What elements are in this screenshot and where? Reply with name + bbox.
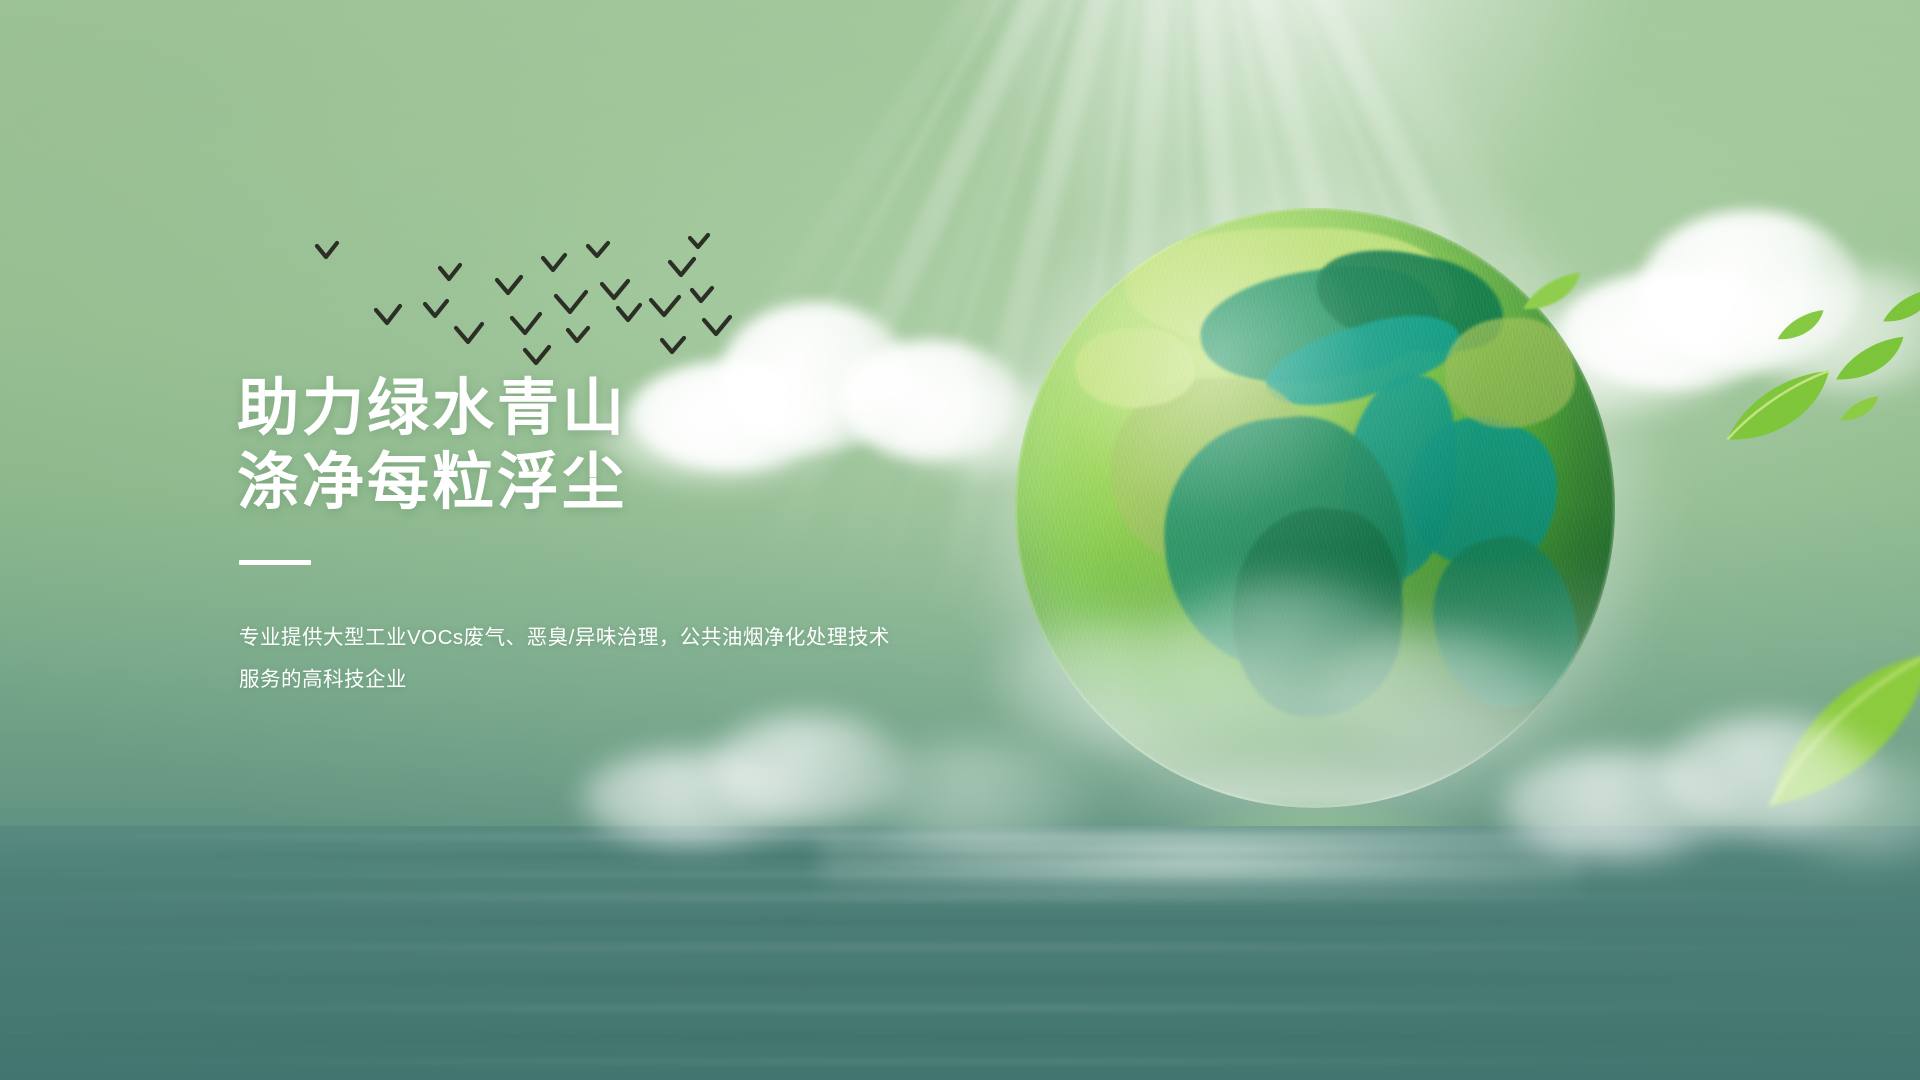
hero-description: 专业提供大型工业VOCs废气、恶臭/异味治理，公共油烟净化处理技术服务的高科技企… — [239, 617, 899, 701]
earth-globe — [1015, 208, 1615, 808]
water-surface — [0, 826, 1920, 1080]
hero-banner: 助力绿水青山 涤净每粒浮尘 专业提供大型工业VOCs废气、恶臭/异味治理，公共油… — [0, 0, 1920, 1080]
globe-rim-light — [1015, 208, 1615, 808]
headline-line-2: 涤净每粒浮尘 — [237, 446, 957, 520]
headline-line-1: 助力绿水青山 — [237, 372, 957, 446]
accent-rule-divider — [239, 560, 311, 565]
hero-copy: 助力绿水青山 涤净每粒浮尘 专业提供大型工业VOCs废气、恶臭/异味治理，公共油… — [237, 372, 957, 701]
